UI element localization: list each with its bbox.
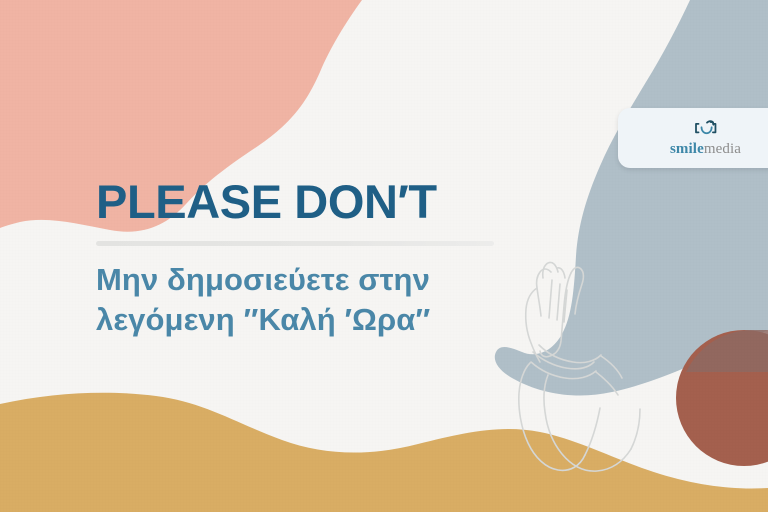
bluegray-blob-right <box>495 0 768 396</box>
logo-wordmark: smilemedia <box>670 141 741 158</box>
subtitle-line-1: Μην δημοσιεύετε στην <box>96 262 430 297</box>
message-block: PLEASE DON′T Μην δημοσιεύετε στην λεγόμε… <box>96 178 516 340</box>
page-title: PLEASE DON′T <box>96 178 516 227</box>
subtitle-line-2: λεγόμενη ″Καλή ′Ωρα″ <box>96 302 430 337</box>
ochre-blob-bottom-left <box>0 393 768 512</box>
logo-badge[interactable]: smilemedia <box>618 108 768 168</box>
smile-bracket-icon <box>693 118 721 140</box>
poster-canvas: PLEASE DON′T Μην δημοσιεύετε στην λεγόμε… <box>0 0 768 512</box>
circle-bluegray-overlap <box>686 330 768 372</box>
logo-word-media: media <box>704 141 741 157</box>
subtitle: Μην δημοσιεύετε στην λεγόμενη ″Καλή ′Ωρα… <box>96 260 516 341</box>
title-divider <box>96 241 494 246</box>
logo-word-smile: smile <box>670 141 704 157</box>
praying-hands-icon <box>519 262 640 471</box>
rose-circle-bottom-right <box>676 330 768 466</box>
